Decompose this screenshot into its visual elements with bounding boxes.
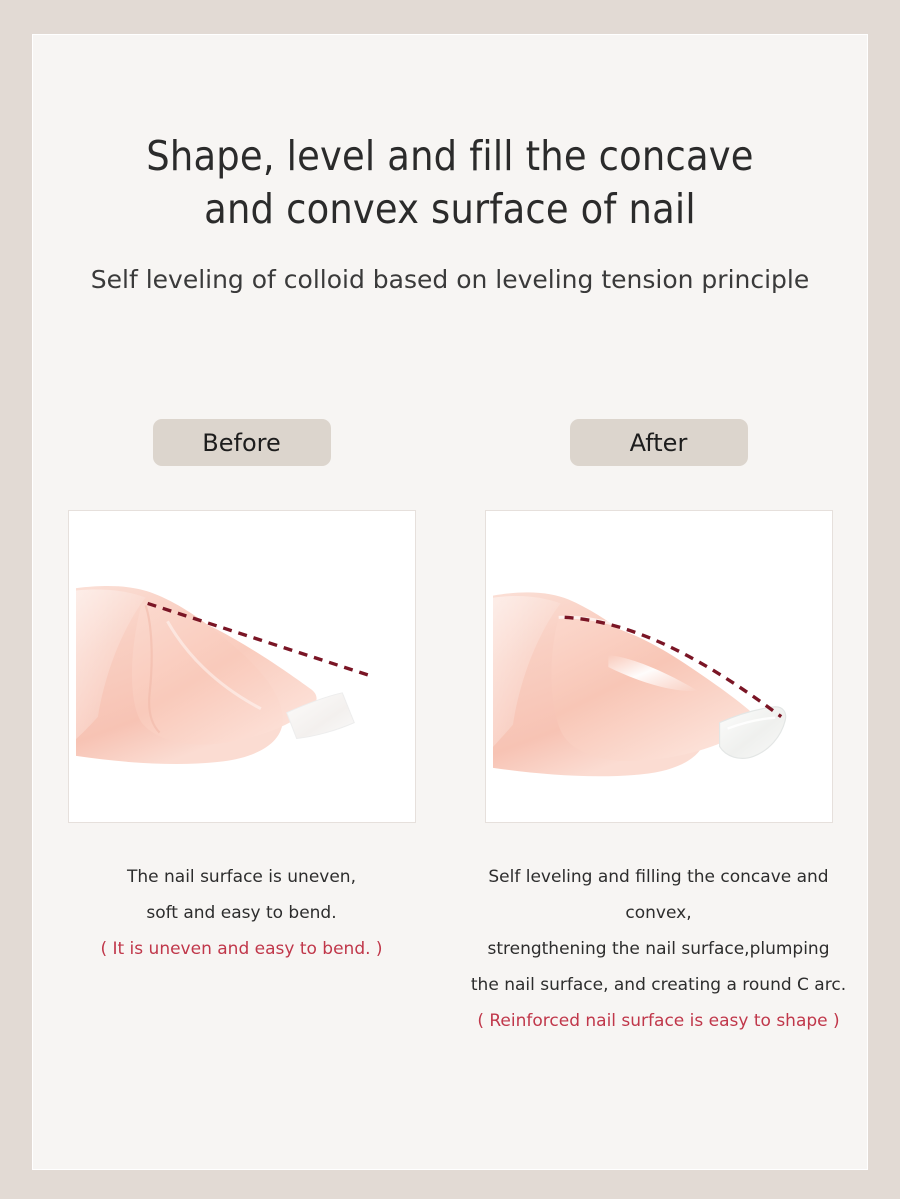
page-title-line-1: Shape, level and fill the concave [90, 130, 810, 183]
after-illustration [493, 518, 825, 815]
before-image-frame [68, 510, 416, 823]
after-caption-accent: ( Reinforced nail surface is easy to sha… [459, 1003, 859, 1039]
before-column: Before [33, 419, 450, 1039]
badge-before-label: Before [202, 429, 280, 457]
badge-after-label: After [630, 429, 688, 457]
after-caption-line-2: strengthening the nail surface,plumping [459, 931, 859, 967]
page-title: Shape, level and fill the concave and co… [90, 130, 810, 236]
content-card: Shape, level and fill the concave and co… [33, 35, 867, 1169]
after-image-frame [485, 510, 833, 823]
before-caption: The nail surface is uneven, soft and eas… [42, 859, 442, 967]
after-caption: Self leveling and filling the concave an… [459, 859, 859, 1039]
comparison-section: Before [33, 419, 867, 1039]
before-caption-line-2: soft and easy to bend. [42, 895, 442, 931]
before-caption-line-1: The nail surface is uneven, [42, 859, 442, 895]
after-caption-line-1: Self leveling and filling the concave an… [459, 859, 859, 931]
before-caption-accent: ( It is uneven and easy to bend. ) [42, 931, 442, 967]
after-caption-line-3: the nail surface, and creating a round C… [459, 967, 859, 1003]
badge-before: Before [153, 419, 331, 466]
page-title-line-2: and convex surface of nail [90, 183, 810, 236]
before-nail-svg [76, 518, 408, 815]
badge-after: After [570, 419, 748, 466]
after-column: After [450, 419, 867, 1039]
page-subtitle: Self leveling of colloid based on leveli… [33, 264, 867, 296]
after-nail-svg [493, 518, 825, 815]
page-frame: Shape, level and fill the concave and co… [0, 0, 900, 1199]
before-illustration [76, 518, 408, 815]
header-block: Shape, level and fill the concave and co… [33, 130, 867, 296]
